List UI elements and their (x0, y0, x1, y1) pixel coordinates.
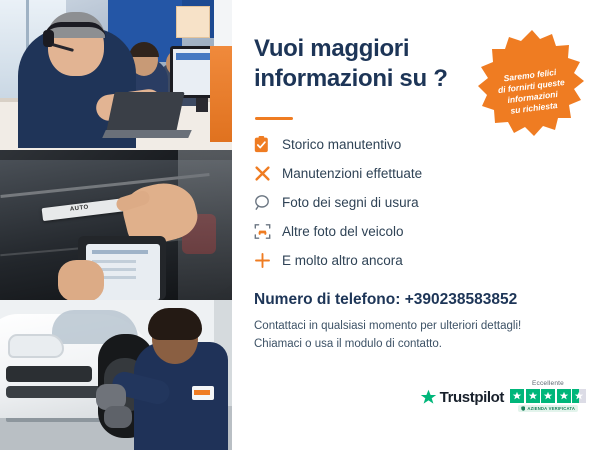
contact-subtext: Contattaci in qualsiasi momento per ulte… (254, 317, 554, 353)
call-center-photo (0, 0, 232, 150)
verified-company-text: AZIENDA VERIFICATA (527, 406, 575, 411)
wheel-check-photo (0, 300, 232, 450)
list-item-label: Foto dei segni di usura (282, 195, 419, 210)
car-lower-grille (6, 386, 102, 398)
list-item: Foto dei segni di usura (254, 188, 504, 217)
list-item: Altre foto del veicolo (254, 217, 504, 246)
phone-line: Numero di telefono: +390238583852 (254, 291, 517, 309)
list-item-label: Storico manutentivo (282, 137, 401, 152)
list-item: Manutenzioni effettuate (254, 159, 504, 188)
contact-subtext-line-2: Chiamaci o usa il modulo di contatto. (254, 335, 554, 353)
photo-frame-car-icon (254, 223, 282, 240)
contact-subtext-line-1: Contattaci in qualsiasi momento per ulte… (254, 317, 554, 335)
trustpilot-name: Trustpilot (440, 389, 504, 406)
mechanic-glove-2 (104, 406, 132, 428)
phone-label: Numero di telefono: (254, 291, 400, 308)
wall-poster (176, 6, 210, 38)
on-request-badge: Saremo felici di fornirti queste informa… (476, 28, 588, 140)
list-item-label: E molto altro ancora (282, 253, 403, 268)
inspector-hand-2 (58, 260, 104, 300)
star-5-icon (572, 389, 586, 403)
photo-column (0, 0, 232, 450)
orange-column-accent (210, 46, 232, 142)
plus-icon (254, 252, 282, 269)
trustpilot-logo: Trustpilot (420, 389, 504, 406)
list-item-label: Manutenzioni effettuate (282, 166, 422, 181)
page-title-line-2: informazioni su ? (254, 64, 479, 94)
list-item: Storico manutentivo (254, 130, 504, 159)
badge-text: Saremo felici di fornirti queste informa… (488, 65, 577, 119)
content-panel: Vuoi maggiori informazioni su ? Saremo f… (232, 0, 600, 450)
promo-poster: Vuoi maggiori informazioni su ? Saremo f… (0, 0, 600, 450)
mechanic-uniform-badge (192, 386, 214, 400)
page-title-line-1: Vuoi maggiori (254, 34, 479, 64)
list-item: E molto altro ancora (254, 246, 504, 275)
star-1-icon (510, 389, 524, 403)
trustpilot-stars (510, 389, 586, 403)
phone-number[interactable]: +390238583852 (405, 291, 518, 308)
title-divider (255, 117, 293, 120)
wrench-cross-icon (254, 165, 282, 182)
vehicle-inspection-photo (0, 150, 232, 300)
trustpilot-widget[interactable]: Trustpilot Eccellente AZIENDA VERIFICATA (420, 380, 586, 412)
list-item-label: Altre foto del veicolo (282, 224, 404, 239)
car-headlight (8, 334, 64, 358)
page-title: Vuoi maggiori informazioni su ? (254, 34, 479, 94)
monitor-stand (196, 98, 208, 112)
star-3-icon (541, 389, 555, 403)
trustpilot-rating: Eccellente AZIENDA VERIFICATA (510, 380, 586, 412)
clipboard-check-icon (254, 136, 282, 153)
magnifier-icon (254, 194, 282, 211)
shield-check-icon (521, 406, 526, 411)
star-4-icon (557, 389, 571, 403)
laptop-base (102, 130, 192, 138)
star-2-icon (526, 389, 540, 403)
trustpilot-rating-label: Eccellente (532, 380, 564, 387)
car-grille (6, 366, 92, 382)
mechanic-hair (148, 308, 202, 340)
verified-company-badge: AZIENDA VERIFICATA (518, 405, 578, 412)
trustpilot-star-icon (420, 389, 437, 406)
feature-list: Storico manutentivo Manutenzioni effettu… (254, 130, 504, 275)
